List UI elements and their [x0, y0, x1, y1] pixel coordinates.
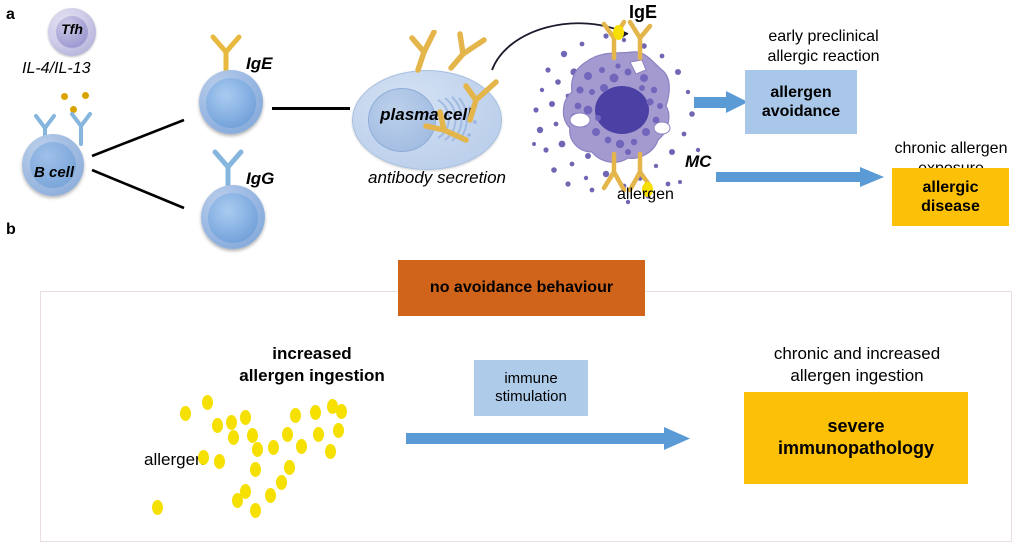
- allergen-label-a: allergen: [617, 186, 674, 205]
- immune-stimulation-box: immune stimulation: [474, 360, 588, 416]
- ige-to-plasma-line: [272, 107, 350, 110]
- arrow-immune-stimulation: [406, 425, 692, 451]
- allergic-disease-line2: disease: [921, 197, 980, 216]
- chronic-exposure-line1: chronic allergen: [876, 140, 1024, 159]
- arrow-to-avoidance: [694, 88, 750, 116]
- b-cell-branch-lines: [88, 118, 208, 218]
- cytokine-label: IL-4/IL-13: [22, 60, 90, 79]
- antibody-secretion-label: antibody secretion: [352, 168, 522, 188]
- allergen-dot-top: [613, 25, 624, 40]
- early-reaction-line2: allergic reaction: [736, 48, 911, 67]
- ige-cell-label: IgE: [246, 54, 272, 74]
- arrow-to-allergic-disease: [716, 164, 886, 190]
- ige-cell: [199, 70, 263, 134]
- mast-cell-label: MC: [685, 152, 711, 172]
- early-reaction-line1: early preclinical: [736, 28, 911, 47]
- allergen-avoidance-box: allergen avoidance: [745, 70, 857, 134]
- figure-root: a Tfh IL-4/IL-13 B cell Ig: [0, 0, 1024, 550]
- panel-letter-a: a: [6, 6, 15, 24]
- allergen-avoidance-line1: allergen: [762, 83, 840, 102]
- allergen-avoidance-line2: avoidance: [762, 102, 840, 121]
- chronic-ingestion-line2: allergen ingestion: [742, 366, 972, 386]
- mast-ige-receptor-top-icon: [596, 18, 660, 66]
- ige-cell-nucleus: [206, 78, 256, 128]
- igg-cell: [201, 185, 265, 249]
- no-avoidance-banner: no avoidance behaviour: [398, 260, 645, 316]
- increased-ingestion-line2: allergen ingestion: [212, 366, 412, 386]
- cytokine-dot: [82, 92, 89, 99]
- panel-letter-b: b: [6, 221, 16, 239]
- severe-immunopathology-box: severe immunopathology: [744, 392, 968, 484]
- chronic-ingestion-line1: chronic and increased: [742, 344, 972, 364]
- allergic-disease-box: allergic disease: [892, 168, 1009, 226]
- allergic-disease-line1: allergic: [921, 178, 980, 197]
- tfh-cell: Tfh: [48, 8, 96, 56]
- severe-line1: severe: [778, 416, 934, 438]
- allergen-label-b: allergen: [144, 450, 205, 470]
- cytokine-dot: [61, 93, 68, 100]
- igg-cell-label: IgG: [246, 169, 274, 189]
- severe-line2: immunopathology: [778, 438, 934, 460]
- immune-stimulation-line1: immune: [495, 370, 567, 388]
- immune-stimulation-line2: stimulation: [495, 388, 567, 406]
- b-cell-label: B cell: [18, 164, 90, 182]
- igg-cell-nucleus: [208, 193, 258, 243]
- tfh-label: Tfh: [48, 21, 96, 38]
- increased-ingestion-line1: increased: [212, 344, 412, 364]
